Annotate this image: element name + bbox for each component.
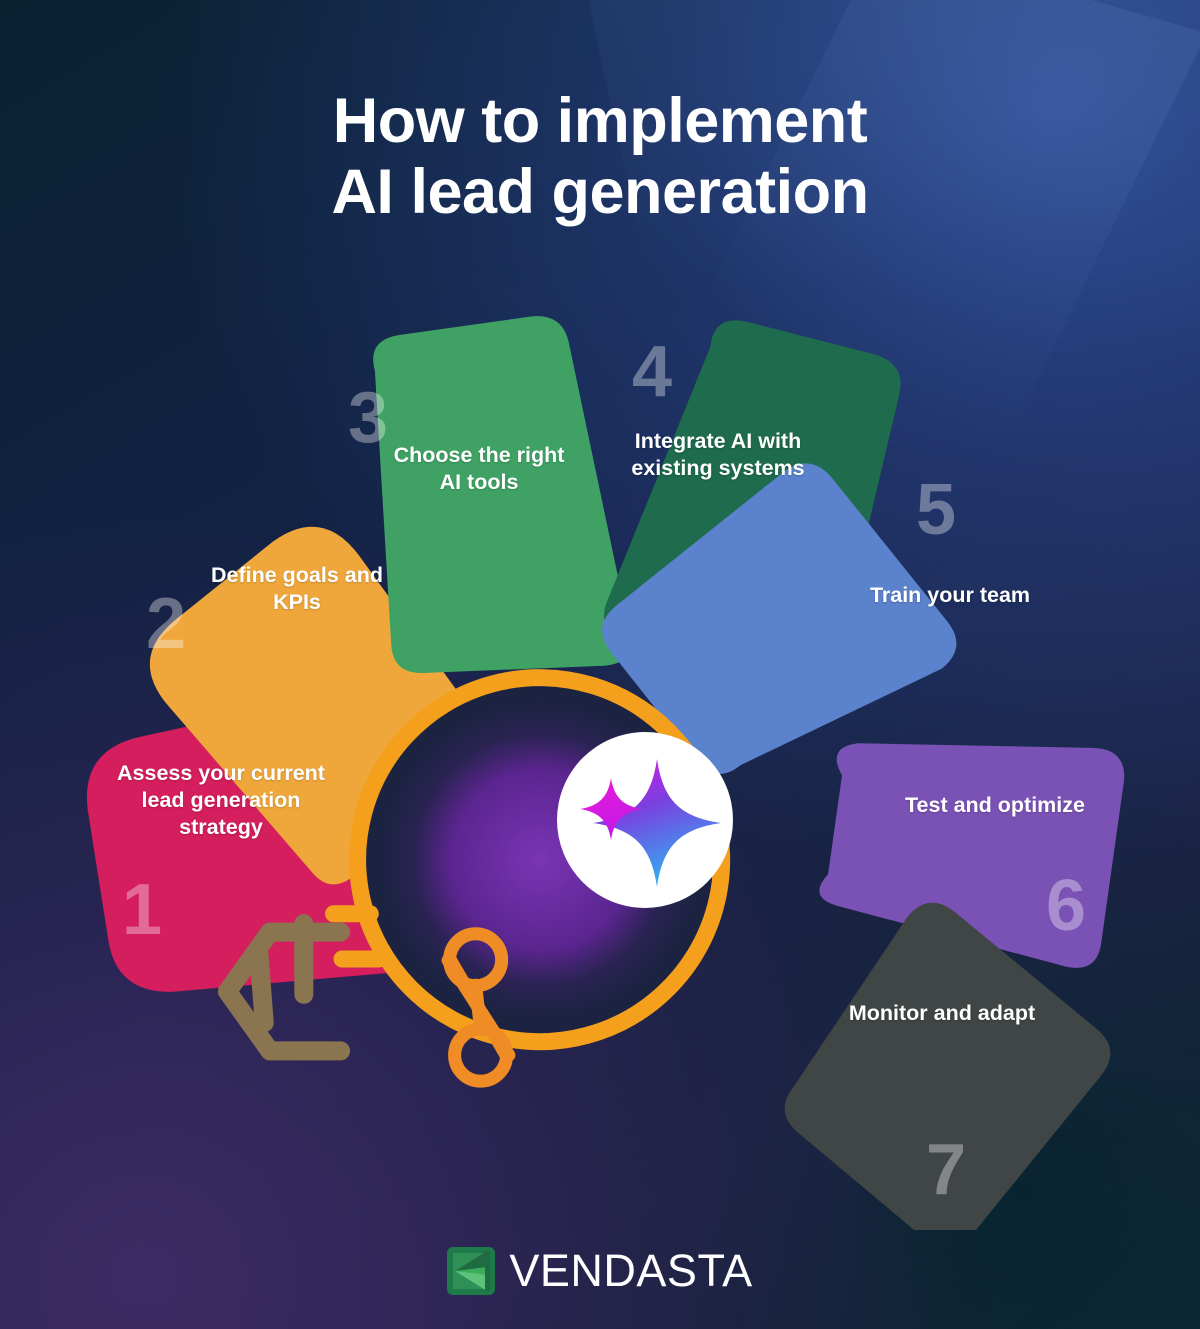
vendasta-logo[interactable]: VENDASTA xyxy=(0,1245,1200,1297)
infographic-canvas: How to implement AI lead generation xyxy=(0,0,1200,1329)
vendasta-logo-text: VENDASTA xyxy=(509,1245,752,1297)
petal-step-3[interactable] xyxy=(349,309,634,695)
wheel-graphic xyxy=(60,300,1140,1230)
page-title: How to implement AI lead generation xyxy=(0,86,1200,227)
page-title-line-2: AI lead generation xyxy=(0,157,1200,228)
steps-wheel: Assess your current lead generation stra… xyxy=(60,300,1140,1230)
vendasta-logo-mark xyxy=(447,1247,495,1295)
page-title-line-1: How to implement xyxy=(0,86,1200,157)
